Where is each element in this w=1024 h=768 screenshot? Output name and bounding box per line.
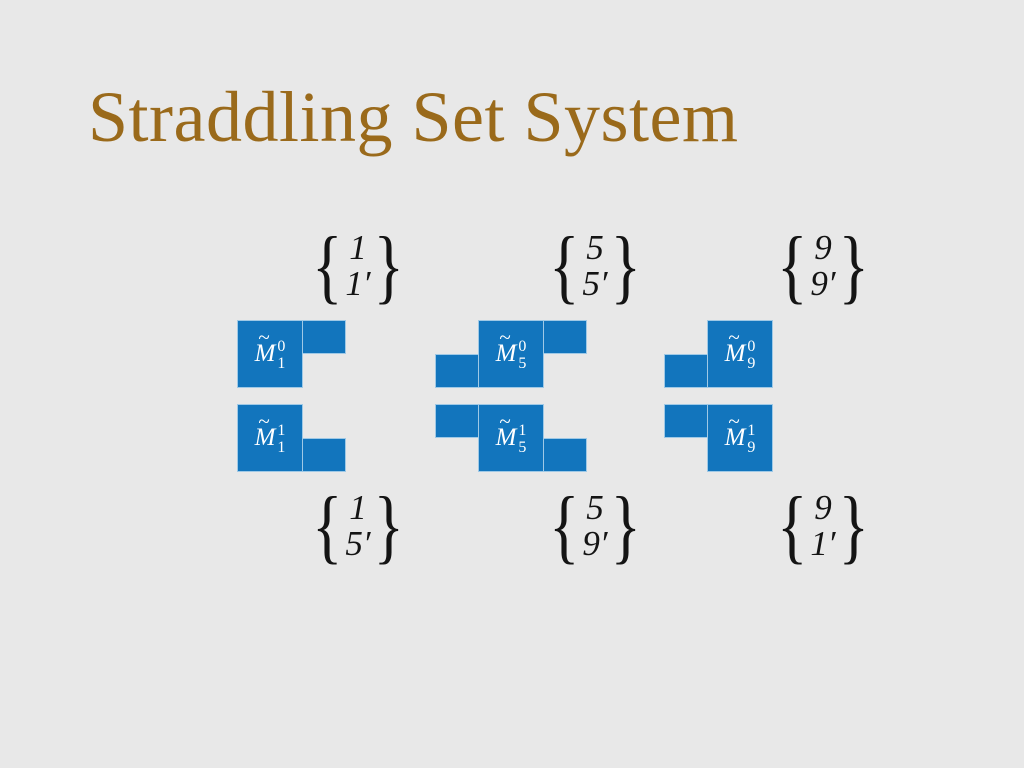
block-main: ~ M 1 5 xyxy=(478,404,544,472)
block-stub-bottom-right xyxy=(543,438,587,472)
set-item-first: 5 xyxy=(586,490,604,526)
set-item-first: 9 xyxy=(814,230,832,266)
block-main: ~ M 1 9 xyxy=(707,404,773,472)
set-item-second: 9′ xyxy=(582,526,607,562)
brace-open-icon: { xyxy=(312,226,342,305)
shape-M9-0[interactable]: ~ M 0 9 xyxy=(650,312,880,396)
brace-open-icon: { xyxy=(312,486,342,565)
set-item-first: 1 xyxy=(349,490,367,526)
label-subscript: 5 xyxy=(518,356,526,372)
label-subscript: 1 xyxy=(277,356,285,372)
brace-close-icon: } xyxy=(374,486,404,565)
block-stub-bottom-right xyxy=(302,438,346,472)
label-base: ~ M xyxy=(255,340,276,368)
label-base: ~ M xyxy=(255,424,276,452)
block-main: ~ M 0 1 xyxy=(237,320,303,388)
brace-open-icon: { xyxy=(777,226,807,305)
set-item-second: 1′ xyxy=(810,526,835,562)
tilde-accent-icon: ~ xyxy=(499,325,510,350)
block-label: ~ M 0 1 xyxy=(237,320,303,388)
label-scripts: 0 1 xyxy=(277,339,285,372)
set-item-first: 9 xyxy=(814,490,832,526)
set-item-first: 5 xyxy=(586,230,604,266)
set-group-3: { 9 9′ } ~ M 0 xyxy=(650,228,880,568)
slide-canvas: Straddling Set System { 1 1′ } ~ M xyxy=(0,0,1024,768)
label-letter: M xyxy=(255,424,276,451)
shape-M9-1[interactable]: ~ M 1 9 xyxy=(650,404,880,488)
block-label: ~ M 1 9 xyxy=(707,404,773,472)
set-items: 1 5′ xyxy=(345,490,370,561)
set-group-1: { 1 1′ } ~ M 0 1 xyxy=(195,228,425,568)
block-stub-top-right xyxy=(302,320,346,354)
block-label: ~ M 0 5 xyxy=(478,320,544,388)
brace-close-icon: } xyxy=(611,486,641,565)
label-superscript: 0 xyxy=(518,339,526,355)
block-main: ~ M 1 1 xyxy=(237,404,303,472)
brace-close-icon: } xyxy=(611,226,641,305)
straddling-set-system-diagram: { 1 1′ } ~ M 0 1 xyxy=(0,0,1024,768)
label-superscript: 1 xyxy=(747,423,755,439)
label-superscript: 1 xyxy=(518,423,526,439)
block-label: ~ M 1 5 xyxy=(478,404,544,472)
brace-open-icon: { xyxy=(777,486,807,565)
bottom-set-label-group-3: { 9 1′ } xyxy=(708,488,938,564)
label-subscript: 5 xyxy=(518,440,526,456)
set-item-second: 5′ xyxy=(345,526,370,562)
label-subscript: 9 xyxy=(747,356,755,372)
tilde-accent-icon: ~ xyxy=(258,325,269,350)
label-scripts: 0 9 xyxy=(747,339,755,372)
top-set-label-group-3: { 9 9′ } xyxy=(708,228,938,304)
label-superscript: 0 xyxy=(277,339,285,355)
set-item-first: 1 xyxy=(349,230,367,266)
tilde-accent-icon: ~ xyxy=(728,325,739,350)
label-letter: M xyxy=(725,340,746,367)
block-main: ~ M 0 5 xyxy=(478,320,544,388)
label-scripts: 0 5 xyxy=(518,339,526,372)
label-subscript: 1 xyxy=(277,440,285,456)
label-base: ~ M xyxy=(725,340,746,368)
label-subscript: 9 xyxy=(747,440,755,456)
block-stub-bottom-left xyxy=(664,354,708,388)
set-item-second: 1′ xyxy=(345,266,370,302)
label-superscript: 1 xyxy=(277,423,285,439)
set-group-2: { 5 5′ } ~ M 0 xyxy=(425,228,655,568)
set-items: 1 1′ xyxy=(345,230,370,301)
brace-close-icon: } xyxy=(839,226,869,305)
label-base: ~ M xyxy=(496,340,517,368)
label-scripts: 1 5 xyxy=(518,423,526,456)
set-items: 5 9′ xyxy=(582,490,607,561)
label-base: ~ M xyxy=(496,424,517,452)
tilde-accent-icon: ~ xyxy=(499,409,510,434)
block-stub-top-right xyxy=(543,320,587,354)
block-stub-bottom-left xyxy=(435,354,479,388)
label-scripts: 1 1 xyxy=(277,423,285,456)
brace-close-icon: } xyxy=(374,226,404,305)
shape-M1-0[interactable]: ~ M 0 1 xyxy=(195,312,425,396)
block-stub-top-left xyxy=(435,404,479,438)
block-label: ~ M 1 1 xyxy=(237,404,303,472)
set-item-second: 9′ xyxy=(810,266,835,302)
block-main: ~ M 0 9 xyxy=(707,320,773,388)
label-letter: M xyxy=(496,340,517,367)
shape-M5-1[interactable]: ~ M 1 5 xyxy=(425,404,655,488)
brace-open-icon: { xyxy=(549,486,579,565)
block-stub-top-left xyxy=(664,404,708,438)
shape-M5-0[interactable]: ~ M 0 5 xyxy=(425,312,655,396)
set-items: 5 5′ xyxy=(582,230,607,301)
brace-close-icon: } xyxy=(839,486,869,565)
label-base: ~ M xyxy=(725,424,746,452)
tilde-accent-icon: ~ xyxy=(258,409,269,434)
set-items: 9 1′ xyxy=(810,490,835,561)
tilde-accent-icon: ~ xyxy=(728,409,739,434)
set-items: 9 9′ xyxy=(810,230,835,301)
label-letter: M xyxy=(496,424,517,451)
brace-open-icon: { xyxy=(549,226,579,305)
block-label: ~ M 0 9 xyxy=(707,320,773,388)
label-letter: M xyxy=(255,340,276,367)
shape-M1-1[interactable]: ~ M 1 1 xyxy=(195,404,425,488)
label-scripts: 1 9 xyxy=(747,423,755,456)
label-letter: M xyxy=(725,424,746,451)
set-item-second: 5′ xyxy=(582,266,607,302)
label-superscript: 0 xyxy=(747,339,755,355)
